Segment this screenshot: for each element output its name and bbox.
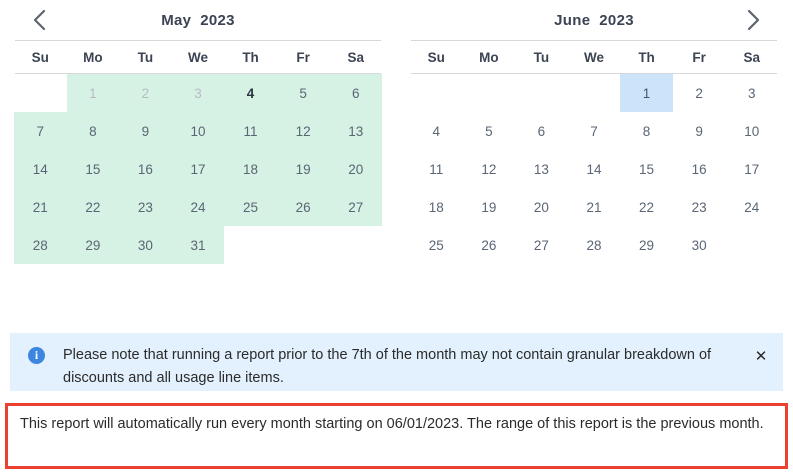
calendar-day[interactable]: 10 — [725, 112, 778, 150]
calendar-left-title: May 2023 — [161, 12, 235, 29]
calendar-day-number: 30 — [138, 238, 153, 253]
calendar-week-row: 123456 — [14, 74, 382, 112]
calendar-day-number: 11 — [244, 124, 258, 139]
calendar-day[interactable]: 17 — [172, 150, 225, 188]
calendar-week-row: 45678910 — [410, 112, 778, 150]
calendar-day[interactable]: 18 — [410, 188, 463, 226]
info-icon: i — [28, 347, 45, 364]
close-icon[interactable]: ✕ — [751, 346, 771, 366]
schedule-notice-box: This report will automatically run every… — [5, 403, 788, 469]
calendar-day-number: 21 — [586, 200, 601, 215]
weekday-su: Su — [410, 41, 463, 73]
calendar-day-number: 8 — [643, 124, 651, 139]
weekday-fr: Fr — [277, 41, 330, 73]
calendar-day[interactable]: 30 — [673, 226, 726, 264]
weekday-mo: Mo — [463, 41, 516, 73]
calendar-day[interactable]: 4 — [410, 112, 463, 150]
calendar-day-number: 15 — [85, 162, 100, 177]
calendar-day[interactable]: 26 — [277, 188, 330, 226]
calendar-day[interactable]: 11 — [410, 150, 463, 188]
calendar-day-number: 7 — [590, 124, 598, 139]
calendar-day-number: 27 — [348, 200, 363, 215]
calendar-day-number: 14 — [586, 162, 601, 177]
calendar-left-header: May 2023 — [14, 0, 382, 40]
calendar-day[interactable]: 12 — [463, 150, 516, 188]
calendar-day[interactable]: 28 — [14, 226, 67, 264]
calendar-day-number: 16 — [138, 162, 153, 177]
calendar-day[interactable]: 30 — [119, 226, 172, 264]
calendar-day-empty — [14, 74, 67, 112]
weekday-sa: Sa — [725, 41, 778, 73]
calendar-day-empty — [568, 74, 621, 112]
calendar-day-number: 7 — [37, 124, 45, 139]
calendar-day-number: 29 — [85, 238, 100, 253]
calendar-day-number: 4 — [433, 124, 441, 139]
calendar-day-number: 17 — [190, 162, 205, 177]
calendar-day[interactable]: 8 — [620, 112, 673, 150]
calendar-day[interactable]: 21 — [14, 188, 67, 226]
calendar-day[interactable]: 5 — [463, 112, 516, 150]
calendar-day-empty — [725, 226, 778, 264]
calendar-day-number: 20 — [534, 200, 549, 215]
calendar-day-number: 6 — [352, 86, 360, 101]
calendar-day-number: 18 — [243, 162, 258, 177]
calendar-day-number: 6 — [538, 124, 546, 139]
calendar-day-number: 25 — [429, 238, 444, 253]
calendar-day[interactable]: 21 — [568, 188, 621, 226]
calendar-day[interactable]: 13 — [515, 150, 568, 188]
calendar-day-number: 1 — [643, 86, 651, 101]
calendar-day-number: 23 — [692, 200, 707, 215]
calendar-day-number: 10 — [744, 124, 759, 139]
calendar-week-row: 28293031 — [14, 226, 382, 264]
calendar-day-number: 29 — [639, 238, 654, 253]
calendar-day[interactable]: 15 — [620, 150, 673, 188]
calendar-week-row: 252627282930 — [410, 226, 778, 264]
calendar-day[interactable]: 20 — [515, 188, 568, 226]
calendar-day-number: 30 — [692, 238, 707, 253]
calendar-left-weeks: 1234567891011121314151617181920212223242… — [14, 74, 382, 264]
date-range-picker-panel: May 2023 Su Mo Tu We Th Fr Sa 1234567891… — [0, 0, 793, 472]
calendar-day[interactable]: 2 — [673, 74, 726, 112]
calendar-day[interactable]: 12 — [277, 112, 330, 150]
calendar-day-number: 18 — [429, 200, 444, 215]
calendar-day-number: 8 — [89, 124, 97, 139]
calendar-day[interactable]: 14 — [568, 150, 621, 188]
calendar-day-number: 20 — [348, 162, 363, 177]
weekday-tu: Tu — [515, 41, 568, 73]
calendar-day-number: 3 — [748, 86, 756, 101]
calendar-day-number: 16 — [692, 162, 707, 177]
calendar-day-empty — [277, 226, 330, 264]
calendar-day[interactable]: 7 — [14, 112, 67, 150]
calendar-day[interactable]: 6 — [329, 74, 382, 112]
calendar-day-number: 22 — [639, 200, 654, 215]
calendar-day-number: 12 — [296, 124, 311, 139]
calendar-right-weekday-row: Su Mo Tu We Th Fr Sa — [410, 41, 778, 73]
chevron-left-icon — [33, 9, 46, 31]
calendar-day[interactable]: 23 — [673, 188, 726, 226]
calendar-day-number: 5 — [485, 124, 493, 139]
calendar-day[interactable]: 27 — [329, 188, 382, 226]
calendar-day[interactable]: 3 — [172, 74, 225, 112]
calendar-day-number: 19 — [481, 200, 496, 215]
calendar-day-number: 22 — [85, 200, 100, 215]
calendar-week-row: 18192021222324 — [410, 188, 778, 226]
calendar-right-title: June 2023 — [554, 12, 634, 29]
calendar-day[interactable]: 31 — [172, 226, 225, 264]
calendar-day-number: 2 — [695, 86, 703, 101]
calendar-day[interactable]: 7 — [568, 112, 621, 150]
calendar-right: June 2023 Su Mo Tu We Th Fr Sa 123456789… — [396, 0, 792, 300]
calendar-day-number: 10 — [190, 124, 205, 139]
weekday-fr: Fr — [673, 41, 726, 73]
calendar-day-number: 1 — [89, 86, 97, 101]
calendar-right-weeks: 1234567891011121314151617181920212223242… — [410, 74, 778, 264]
calendar-left-weekday-row: Su Mo Tu We Th Fr Sa — [14, 41, 382, 73]
calendar-day-number: 9 — [695, 124, 703, 139]
info-banner: i Please note that running a report prio… — [10, 333, 783, 391]
calendar-day[interactable]: 15 — [67, 150, 120, 188]
calendar-day[interactable]: 24 — [725, 188, 778, 226]
calendar-day[interactable]: 25 — [410, 226, 463, 264]
prev-month-button[interactable] — [22, 4, 56, 36]
calendar-day[interactable]: 20 — [329, 150, 382, 188]
calendar-day-empty — [463, 74, 516, 112]
calendar-day-number: 12 — [481, 162, 496, 177]
calendar-day-number: 4 — [247, 86, 255, 101]
calendar-day[interactable]: 2 — [119, 74, 172, 112]
calendar-day-number: 24 — [744, 200, 759, 215]
calendar-day-number: 26 — [296, 200, 311, 215]
calendar-day-number: 5 — [299, 86, 307, 101]
calendar-day-number: 13 — [348, 124, 363, 139]
calendar-day-number: 9 — [142, 124, 150, 139]
calendar-day[interactable]: 18 — [224, 150, 277, 188]
calendar-day-number: 24 — [190, 200, 205, 215]
calendar-day-number: 17 — [744, 162, 759, 177]
calendar-day[interactable]: 1 — [67, 74, 120, 112]
calendar-day[interactable]: 28 — [568, 226, 621, 264]
weekday-th: Th — [620, 41, 673, 73]
weekday-we: We — [568, 41, 621, 73]
info-banner-text: Please note that running a report prior … — [63, 344, 751, 391]
calendar-day[interactable]: 4 — [224, 74, 277, 112]
calendar-week-row: 123 — [410, 74, 778, 112]
next-month-button[interactable] — [736, 4, 770, 36]
calendar-day[interactable]: 11 — [224, 112, 277, 150]
calendar-day[interactable]: 9 — [119, 112, 172, 150]
calendar-week-row: 14151617181920 — [14, 150, 382, 188]
calendar-day-empty — [329, 226, 382, 264]
calendar-day[interactable]: 19 — [277, 150, 330, 188]
chevron-right-icon — [747, 9, 760, 31]
calendar-day[interactable]: 8 — [67, 112, 120, 150]
calendar-day-empty — [515, 74, 568, 112]
calendar-day-number: 25 — [243, 200, 258, 215]
calendar-day[interactable]: 6 — [515, 112, 568, 150]
weekday-th: Th — [224, 41, 277, 73]
calendar-day-number: 2 — [142, 86, 150, 101]
calendar-week-row: 11121314151617 — [410, 150, 778, 188]
weekday-we: We — [172, 41, 225, 73]
calendar-day[interactable]: 1 — [620, 74, 673, 112]
calendar-day-number: 11 — [429, 162, 443, 177]
calendar-day-number: 26 — [481, 238, 496, 253]
calendar-day-number: 19 — [296, 162, 311, 177]
calendar-day-number: 28 — [33, 238, 48, 253]
calendar-day-empty — [224, 226, 277, 264]
calendar-day[interactable]: 13 — [329, 112, 382, 150]
calendar-day[interactable]: 27 — [515, 226, 568, 264]
weekday-sa: Sa — [329, 41, 382, 73]
calendar-day[interactable]: 22 — [67, 188, 120, 226]
calendars-container: May 2023 Su Mo Tu We Th Fr Sa 1234567891… — [0, 0, 793, 300]
calendar-day-number: 21 — [33, 200, 48, 215]
calendar-week-row: 78910111213 — [14, 112, 382, 150]
calendar-day-number: 15 — [639, 162, 654, 177]
calendar-week-row: 21222324252627 — [14, 188, 382, 226]
calendar-day[interactable]: 10 — [172, 112, 225, 150]
calendar-day[interactable]: 29 — [620, 226, 673, 264]
weekday-su: Su — [14, 41, 67, 73]
calendar-day[interactable]: 16 — [119, 150, 172, 188]
calendar-right-header: June 2023 — [410, 0, 778, 40]
calendar-day[interactable]: 5 — [277, 74, 330, 112]
weekday-mo: Mo — [67, 41, 120, 73]
calendar-day[interactable]: 19 — [463, 188, 516, 226]
calendar-left: May 2023 Su Mo Tu We Th Fr Sa 1234567891… — [0, 0, 396, 300]
calendar-day-number: 31 — [190, 238, 205, 253]
weekday-tu: Tu — [119, 41, 172, 73]
calendar-day-number: 14 — [33, 162, 48, 177]
calendar-day-number: 23 — [138, 200, 153, 215]
calendar-day-number: 3 — [194, 86, 202, 101]
calendar-day[interactable]: 24 — [172, 188, 225, 226]
schedule-notice-text: This report will automatically run every… — [20, 416, 764, 432]
calendar-day[interactable]: 3 — [725, 74, 778, 112]
calendar-day[interactable]: 14 — [14, 150, 67, 188]
calendar-day[interactable]: 26 — [463, 226, 516, 264]
calendar-day[interactable]: 9 — [673, 112, 726, 150]
calendar-day-empty — [410, 74, 463, 112]
calendar-day-number: 27 — [534, 238, 549, 253]
calendar-day[interactable]: 17 — [725, 150, 778, 188]
calendar-day[interactable]: 22 — [620, 188, 673, 226]
calendar-day-number: 28 — [586, 238, 601, 253]
calendar-day[interactable]: 23 — [119, 188, 172, 226]
calendar-day[interactable]: 29 — [67, 226, 120, 264]
calendar-day-number: 13 — [534, 162, 549, 177]
calendar-day[interactable]: 25 — [224, 188, 277, 226]
calendar-day[interactable]: 16 — [673, 150, 726, 188]
